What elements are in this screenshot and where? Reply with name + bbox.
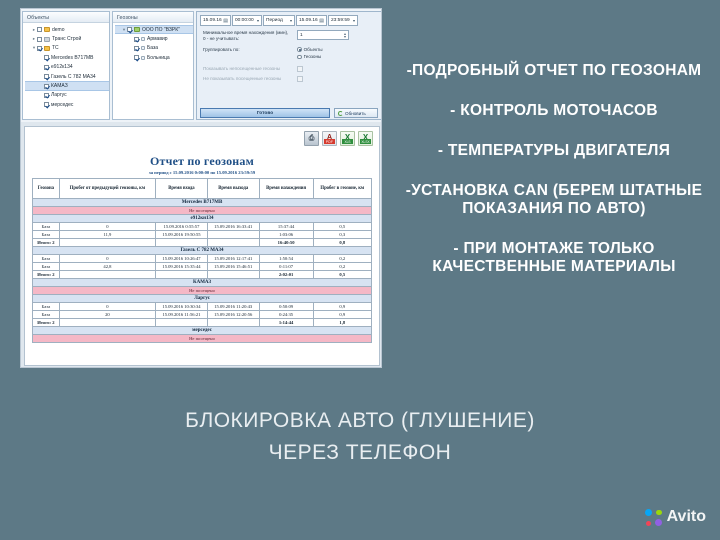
promo-bottom-line-1: БЛОКИРОВКА АВТО (ГЛУШЕНИЕ) [0, 405, 720, 437]
table-cell: 15.09.2016 11:56:21 [156, 311, 208, 319]
xls-export-icon[interactable]: XXLS [340, 131, 355, 146]
folder-icon [44, 46, 50, 51]
group-by-radio-group[interactable]: ОбъектыГеозоны [297, 47, 323, 62]
period-label: Период [266, 18, 283, 23]
top-panes: Объекты ▸demo▸Транс Строй▾ТСMercedes B71… [21, 9, 382, 122]
table-cell: 15:37:44 [259, 223, 313, 231]
table-cell [156, 271, 208, 279]
hide-visited-setting: Не показывать посещенные геозоны [197, 72, 381, 82]
table-cell: 1:03:06 [259, 231, 313, 239]
time-from-value: 00:00:00 [235, 18, 254, 23]
geofence-icon [141, 46, 145, 50]
table-cell: 15.09.2016 12:20:56 [207, 311, 259, 319]
table-cell: 42,8 [59, 263, 155, 271]
table-group-label: Ларгус [33, 295, 372, 303]
table-cell: База [33, 263, 60, 271]
promo-line: - ТЕМПЕРАТУРЫ ДВИГАТЕЛЯ [396, 142, 712, 160]
table-cell: 20 [59, 311, 155, 319]
table-cell: 15.09.2016 15:35:44 [156, 263, 208, 271]
table-column-header: Пробег в геозоне, км [313, 179, 371, 199]
checkbox-icon[interactable] [37, 46, 42, 51]
object-tree-item[interactable]: мерседес [25, 100, 109, 109]
icon-glyph: ⎙ [305, 132, 318, 145]
geofence-tree-item-label: Больница [147, 55, 170, 61]
time-to-input[interactable]: 23:59:59▾ [328, 15, 358, 26]
radio-icon[interactable] [297, 55, 302, 60]
report-toolbar[interactable]: ⎙APDFXXLSXXLSX [25, 127, 379, 148]
date-to-input[interactable]: 15.09.16▤ [296, 15, 327, 26]
table-cell: 0 [59, 255, 155, 263]
table-cell: 0 [59, 223, 155, 231]
table-not-visited-row: Не посещено [33, 207, 372, 215]
table-cell: 15.09.2016 0:55:57 [156, 223, 208, 231]
table-cell: 0 [59, 303, 155, 311]
period-select[interactable]: Период▾ [263, 15, 295, 26]
time-from-input[interactable]: 00:00:00▾ [232, 15, 262, 26]
checkbox-icon[interactable] [134, 46, 139, 51]
promo-copy: -ПОДРОБНЫЙ ОТЧЕТ ПО ГЕОЗОНАМ- КОНТРОЛЬ М… [396, 62, 712, 298]
geofence-tree-item[interactable]: ▾ООО ПО "ВЗРК" [115, 25, 193, 34]
chevron-down-icon[interactable]: ▾ [290, 18, 292, 23]
object-tree-item-label: Mercedes B717MB [51, 55, 94, 61]
geofences-panel-header: Геозоны [113, 12, 193, 23]
table-cell: 15.09.2016 10:30:34 [156, 303, 208, 311]
table-cell: 11,9 [59, 231, 155, 239]
refresh-icon [338, 111, 343, 116]
geofences-tree[interactable]: ▾ООО ПО "ВЗРК"АрмавирБазаБольница [113, 23, 193, 63]
promo-bottom-line-2: ЧЕРЕЗ ТЕЛЕФОН [0, 437, 720, 469]
table-cell [156, 319, 208, 327]
table-column-header: Время нахождения [259, 179, 313, 199]
object-tree-item-label: КАМАЗ [51, 83, 68, 89]
group-by-label: Группировать по: [203, 47, 291, 53]
object-tree-item-label: ТС [52, 45, 59, 51]
group-by-option[interactable]: Геозоны [297, 54, 323, 59]
table-group-row: Mercedes B717MB [33, 199, 372, 207]
table-cell: 16:40:50 [259, 239, 313, 247]
not-visited-label: Не посещено [33, 207, 372, 215]
table-cell [59, 271, 155, 279]
calendar-icon[interactable]: ▤ [223, 18, 228, 24]
icon-tag: PDF [324, 139, 335, 144]
table-not-visited-row: Не посещено [33, 287, 372, 295]
checkbox-icon[interactable] [127, 27, 132, 32]
object-tree-item[interactable]: КАМАЗ [25, 81, 109, 90]
show-unvisited-checkbox [297, 66, 303, 72]
table-row: База2015.09.2016 11:56:2115.09.2016 12:2… [33, 311, 372, 319]
app-screenshot: Объекты ▸demo▸Транс Строй▾ТСMercedes B71… [20, 8, 382, 368]
checkbox-icon[interactable] [44, 65, 49, 70]
date-range-bar: 15.09.16▤ 00:00:00▾ Период▾ 15.09.16▤ 23… [197, 12, 381, 26]
show-unvisited-label: Показывать непосещенные геозоны [203, 66, 291, 72]
object-tree-item-label: Газель С 782 МА34 [51, 74, 96, 80]
table-cell: База [33, 231, 60, 239]
object-tree-item[interactable]: Газель С 782 МА34 [25, 72, 109, 81]
object-tree-item[interactable]: ▸Транс Строй [25, 34, 109, 43]
table-cell: 15.09.2016 10:26:47 [156, 255, 208, 263]
geofence-icon [141, 56, 145, 60]
refresh-button-label: Обновить [345, 111, 366, 116]
table-cell [59, 239, 155, 247]
checkbox-icon[interactable] [134, 55, 139, 60]
group-by-setting: Группировать по: ОбъектыГеозоны [197, 43, 381, 62]
chevron-down-icon[interactable]: ▾ [353, 18, 355, 23]
min-stay-setting: Минимальное время нахождения (мин), 0 - … [197, 26, 381, 43]
object-tree-item-label: demo [52, 27, 65, 33]
checkbox-icon[interactable] [37, 37, 42, 42]
table-cell: 0:24:35 [259, 311, 313, 319]
checkbox-icon[interactable] [37, 27, 42, 32]
table-group-label: Mercedes B717MB [33, 199, 372, 207]
avito-logo-icon [645, 509, 662, 526]
table-group-label: Газель С 782 МА34 [33, 247, 372, 255]
not-visited-label: Не посещено [33, 287, 372, 295]
report-table: ГеозонаПробег от предыдущей геозоны, кмВ… [32, 178, 372, 343]
table-cell: 0,8 [313, 239, 371, 247]
table-cell: 0,5 [313, 223, 371, 231]
table-row: База42,815.09.2016 15:35:4415.09.2016 15… [33, 263, 372, 271]
table-cell: 0,2 [313, 263, 371, 271]
table-header-row: ГеозонаПробег от предыдущей геозоны, кмВ… [33, 179, 372, 199]
table-cell: База [33, 303, 60, 311]
geofence-tree-item-label: ООО ПО "ВЗРК" [142, 27, 180, 33]
table-cell: Итого: 2 [33, 319, 60, 327]
object-tree-item[interactable]: ▾ТС [25, 44, 109, 53]
promo-line: -УСТАНОВКА CAN (БЕРЕМ ШТАТНЫЕ ПОКАЗАНИЯ … [396, 182, 712, 218]
table-total-row: Итого: 216:40:500,8 [33, 239, 372, 247]
geofence-tree-item[interactable]: База [115, 44, 193, 53]
table-row: База11,915.09.2016 19:50:551:03:060,3 [33, 231, 372, 239]
refresh-button[interactable]: Обновить [334, 108, 378, 118]
date-from-value: 15.09.16 [203, 18, 222, 23]
promo-line: - ПРИ МОНТАЖЕ ТОЛЬКО КАЧЕСТВЕННЫЕ МАТЕРИ… [396, 240, 712, 276]
table-group-row: Ларгус [33, 295, 372, 303]
geofence-tree-item[interactable]: Больница [115, 53, 193, 62]
checkbox-icon[interactable] [44, 55, 49, 60]
table-cell: База [33, 311, 60, 319]
objects-panel-header: Объекты [23, 12, 109, 23]
folder-icon [44, 27, 50, 32]
object-tree-item[interactable]: e912к134 [25, 63, 109, 72]
print-icon[interactable]: ⎙ [304, 131, 319, 146]
object-tree-item[interactable]: Mercedes B717MB [25, 53, 109, 62]
report-view: ⎙APDFXXLSXXLSX Отчет по геозонам за пери… [24, 126, 380, 366]
object-tree-item-label: мерседес [51, 102, 73, 108]
table-total-row: Итого: 21:14:441,8 [33, 319, 372, 327]
min-stay-label: Минимальное время нахождения (мин), 0 - … [203, 30, 291, 43]
table-row: База015.09.2016 0:55:5715.09.2016 16:33:… [33, 223, 372, 231]
table-cell [207, 271, 259, 279]
checkbox-icon[interactable] [44, 102, 49, 107]
table-group-row: Газель С 782 МА34 [33, 247, 372, 255]
geofence-icon [141, 37, 145, 41]
table-cell: 1:14:44 [259, 319, 313, 327]
ready-button[interactable]: Готово [200, 108, 330, 118]
objects-panel: Объекты ▸demo▸Транс Строй▾ТСMercedes B71… [22, 11, 110, 120]
table-cell: База [33, 223, 60, 231]
objects-tree[interactable]: ▸demo▸Транс Строй▾ТСMercedes B717MBe912к… [23, 23, 109, 110]
geofence-tree-item-label: Армавир [147, 36, 168, 42]
group-by-option[interactable]: Объекты [297, 47, 323, 52]
table-cell: 0,9 [313, 311, 371, 319]
table-cell [156, 239, 208, 247]
icon-tag: XLS [342, 139, 353, 144]
radio-icon[interactable] [297, 47, 302, 52]
table-cell: 0:11:07 [259, 263, 313, 271]
avito-label: Avito [667, 508, 706, 526]
table-cell: 0,5 [313, 271, 371, 279]
table-column-header: Время входа [156, 179, 208, 199]
table-group-row: e912кн134 [33, 215, 372, 223]
pdf-export-icon[interactable]: APDF [322, 131, 337, 146]
table-cell: 15.09.2016 15:46:51 [207, 263, 259, 271]
table-cell: 2:02:01 [259, 271, 313, 279]
report-title: Отчет по геозонам [25, 154, 379, 169]
table-cell: 1,8 [313, 319, 371, 327]
table-row: База015.09.2016 10:30:3415.09.2016 11:20… [33, 303, 372, 311]
calendar-icon[interactable]: ▤ [319, 18, 324, 24]
folder-grey-icon [44, 37, 50, 42]
table-cell: База [33, 255, 60, 263]
table-column-header: Пробег от предыдущей геозоны, км [59, 179, 155, 199]
table-group-row: КАМАЗ [33, 279, 372, 287]
group-by-option-label: Объекты [304, 47, 323, 52]
group-by-option-label: Геозоны [304, 54, 322, 59]
table-cell [207, 239, 259, 247]
table-cell: 1:50:54 [259, 255, 313, 263]
min-stay-stepper[interactable]: 1 ▴▾ [297, 30, 349, 40]
table-column-header: Время выхода [207, 179, 259, 199]
table-not-visited-row: Не посещено [33, 335, 372, 343]
promo-line: - КОНТРОЛЬ МОТОЧАСОВ [396, 102, 712, 120]
object-tree-item-label: Ларгус [51, 92, 67, 98]
stepper-arrows-icon[interactable]: ▴▾ [344, 32, 346, 38]
table-cell: Итого: 2 [33, 239, 60, 247]
min-stay-value: 1 [300, 33, 303, 38]
table-cell: 15.09.2016 19:50:55 [156, 231, 208, 239]
report-settings-panel: 15.09.16▤ 00:00:00▾ Период▾ 15.09.16▤ 23… [196, 11, 382, 120]
table-cell [207, 231, 259, 239]
table-group-label: e912кн134 [33, 215, 372, 223]
hide-visited-checkbox [297, 76, 303, 82]
checkbox-icon[interactable] [44, 93, 49, 98]
object-tree-item-label: Транс Строй [52, 36, 81, 42]
table-cell: 15.09.2016 11:20:43 [207, 303, 259, 311]
xlsx-export-icon[interactable]: XXLSX [358, 131, 373, 146]
date-from-input[interactable]: 15.09.16▤ [200, 15, 231, 26]
object-tree-item[interactable]: ▸demo [25, 25, 109, 34]
table-cell: 0,2 [313, 255, 371, 263]
geofence-tree-item-label: База [147, 45, 158, 51]
checkbox-icon[interactable] [134, 37, 139, 42]
table-group-label: КАМАЗ [33, 279, 372, 287]
report-table-head: ГеозонаПробег от предыдущей геозоны, кмВ… [33, 179, 372, 199]
object-tree-item-label: e912к134 [51, 64, 73, 70]
icon-tag: XLSX [360, 139, 371, 144]
settings-button-bar: Готово Обновить [197, 107, 381, 119]
table-total-row: Итого: 22:02:010,5 [33, 271, 372, 279]
table-group-label: мерседес [33, 327, 372, 335]
geofences-panel: Геозоны ▾ООО ПО "ВЗРК"АрмавирБазаБольниц… [112, 11, 194, 120]
avito-watermark: Avito [645, 508, 706, 526]
chevron-down-icon[interactable]: ▾ [257, 18, 259, 23]
show-unvisited-setting: Показывать непосещенные геозоны [197, 62, 381, 72]
checkbox-icon[interactable] [44, 74, 49, 79]
promo-bottom-copy: БЛОКИРОВКА АВТО (ГЛУШЕНИЕ) ЧЕРЕЗ ТЕЛЕФОН [0, 405, 720, 469]
checkbox-icon[interactable] [44, 84, 49, 89]
table-cell: 0,9 [313, 303, 371, 311]
promo-line: -ПОДРОБНЫЙ ОТЧЕТ ПО ГЕОЗОНАМ [396, 62, 712, 80]
not-visited-label: Не посещено [33, 335, 372, 343]
table-cell: 15.09.2016 12:17:41 [207, 255, 259, 263]
table-column-header: Геозона [33, 179, 60, 199]
table-cell [59, 319, 155, 327]
hide-visited-label: Не показывать посещенные геозоны [203, 76, 291, 82]
table-cell [207, 319, 259, 327]
date-to-value: 15.09.16 [299, 18, 318, 23]
folder-green-icon [134, 27, 140, 32]
geofence-tree-item[interactable]: Армавир [115, 34, 193, 43]
table-cell: 0:50:09 [259, 303, 313, 311]
table-cell: 0,3 [313, 231, 371, 239]
time-to-value: 23:59:59 [331, 18, 350, 23]
object-tree-item[interactable]: Ларгус [25, 91, 109, 100]
table-row: База015.09.2016 10:26:4715.09.2016 12:17… [33, 255, 372, 263]
table-group-row: мерседес [33, 327, 372, 335]
table-cell: Итого: 2 [33, 271, 60, 279]
report-subtitle: за период с 15.09.2016 0:00:00 по 15.09.… [25, 170, 379, 175]
report-table-body: Mercedes B717MBНе посещеноe912кн134База0… [33, 199, 372, 343]
table-cell: 15.09.2016 16:33:41 [207, 223, 259, 231]
